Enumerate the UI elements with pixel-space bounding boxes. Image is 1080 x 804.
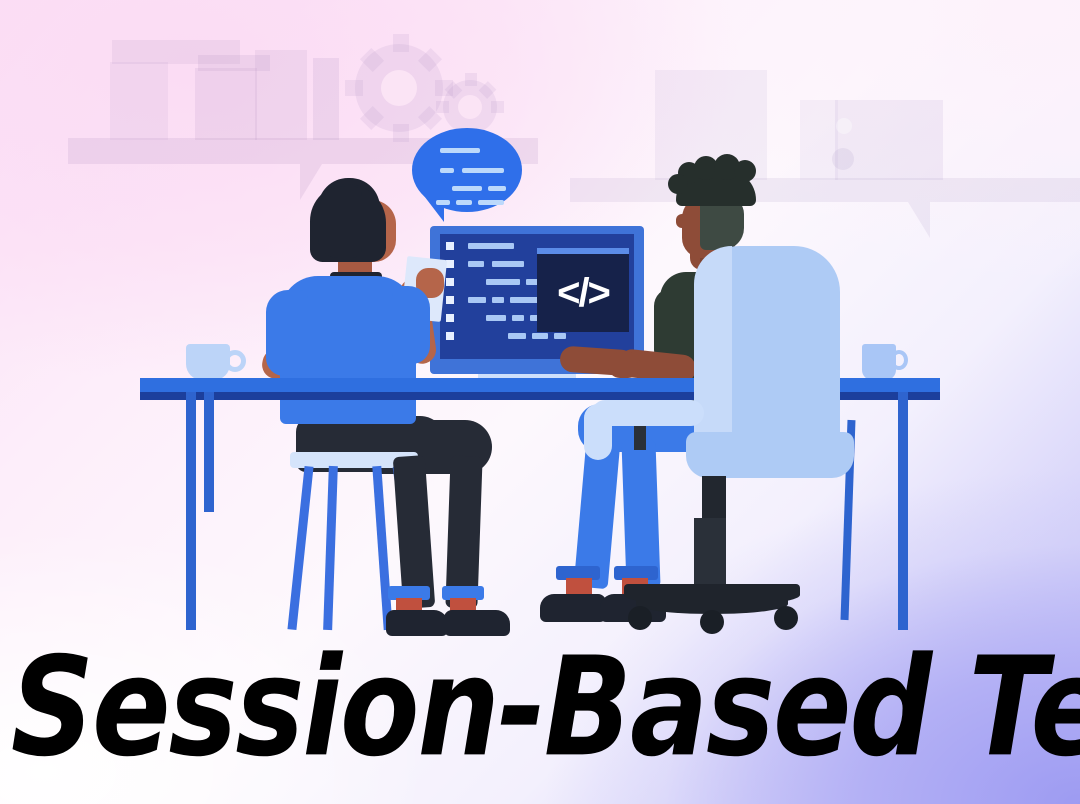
page-title: Session-Based Testing xyxy=(11,636,1069,780)
code-dash xyxy=(468,297,486,303)
office-chair-seat xyxy=(686,432,854,478)
stool-leg xyxy=(372,466,392,630)
code-line xyxy=(440,148,480,153)
right-person-hand xyxy=(608,352,640,378)
left-person-sleeve xyxy=(266,290,308,376)
background-circle-shape xyxy=(832,148,854,170)
code-tag-glyph: </> xyxy=(537,254,629,332)
code-bullet xyxy=(446,278,454,286)
code-bullet xyxy=(446,260,454,268)
background-book-shape xyxy=(255,50,307,140)
background-shelf-bracket-right xyxy=(908,202,930,238)
office-chair-pillar xyxy=(694,518,726,590)
background-frame-shape xyxy=(800,100,838,180)
background-circle-shape xyxy=(836,118,852,134)
code-line xyxy=(488,186,506,191)
poster-canvas: </> xyxy=(0,0,1080,804)
code-bullet xyxy=(446,242,454,250)
left-person-sleeve xyxy=(392,286,430,364)
code-dash xyxy=(554,333,566,339)
background-shelf-bracket-left xyxy=(300,164,322,200)
right-person-shoe xyxy=(540,594,606,622)
code-dash xyxy=(512,315,524,321)
background-book-shape xyxy=(195,68,257,140)
gear-center-hole-small xyxy=(458,95,482,119)
code-dash xyxy=(468,243,514,249)
code-line xyxy=(478,200,504,205)
code-bullet xyxy=(446,296,454,304)
code-line xyxy=(452,186,482,191)
background-frame-shape xyxy=(835,100,943,180)
coffee-cup-left-handle xyxy=(224,350,246,372)
code-line xyxy=(436,200,450,205)
code-dash xyxy=(508,333,526,339)
code-dash xyxy=(532,333,548,339)
code-line xyxy=(462,168,504,173)
code-line xyxy=(440,168,454,173)
code-dash xyxy=(486,279,520,285)
office-chair-pillar xyxy=(702,476,726,520)
coffee-cup-right-handle xyxy=(890,350,908,370)
desk-leg xyxy=(898,392,908,630)
desk-leg xyxy=(186,392,196,630)
code-dash xyxy=(510,297,538,303)
code-dash xyxy=(492,261,524,267)
background-book-shape xyxy=(110,62,168,140)
gear-center-hole xyxy=(381,70,417,106)
left-person-hair-front xyxy=(318,186,362,258)
speech-bubble xyxy=(412,128,522,212)
code-dash xyxy=(492,297,504,303)
code-dash xyxy=(468,261,484,267)
desk-leg-brace xyxy=(204,392,214,512)
code-bullet xyxy=(446,314,454,322)
code-line xyxy=(456,200,472,205)
stool-leg xyxy=(323,466,338,630)
office-chair-armrest-end xyxy=(584,404,612,460)
background-shelf-right xyxy=(570,178,1080,202)
background-book-shape xyxy=(313,58,339,140)
code-dash xyxy=(486,315,506,321)
stool-leg xyxy=(287,466,313,630)
right-person-hair xyxy=(676,170,756,206)
code-bullet xyxy=(446,332,454,340)
